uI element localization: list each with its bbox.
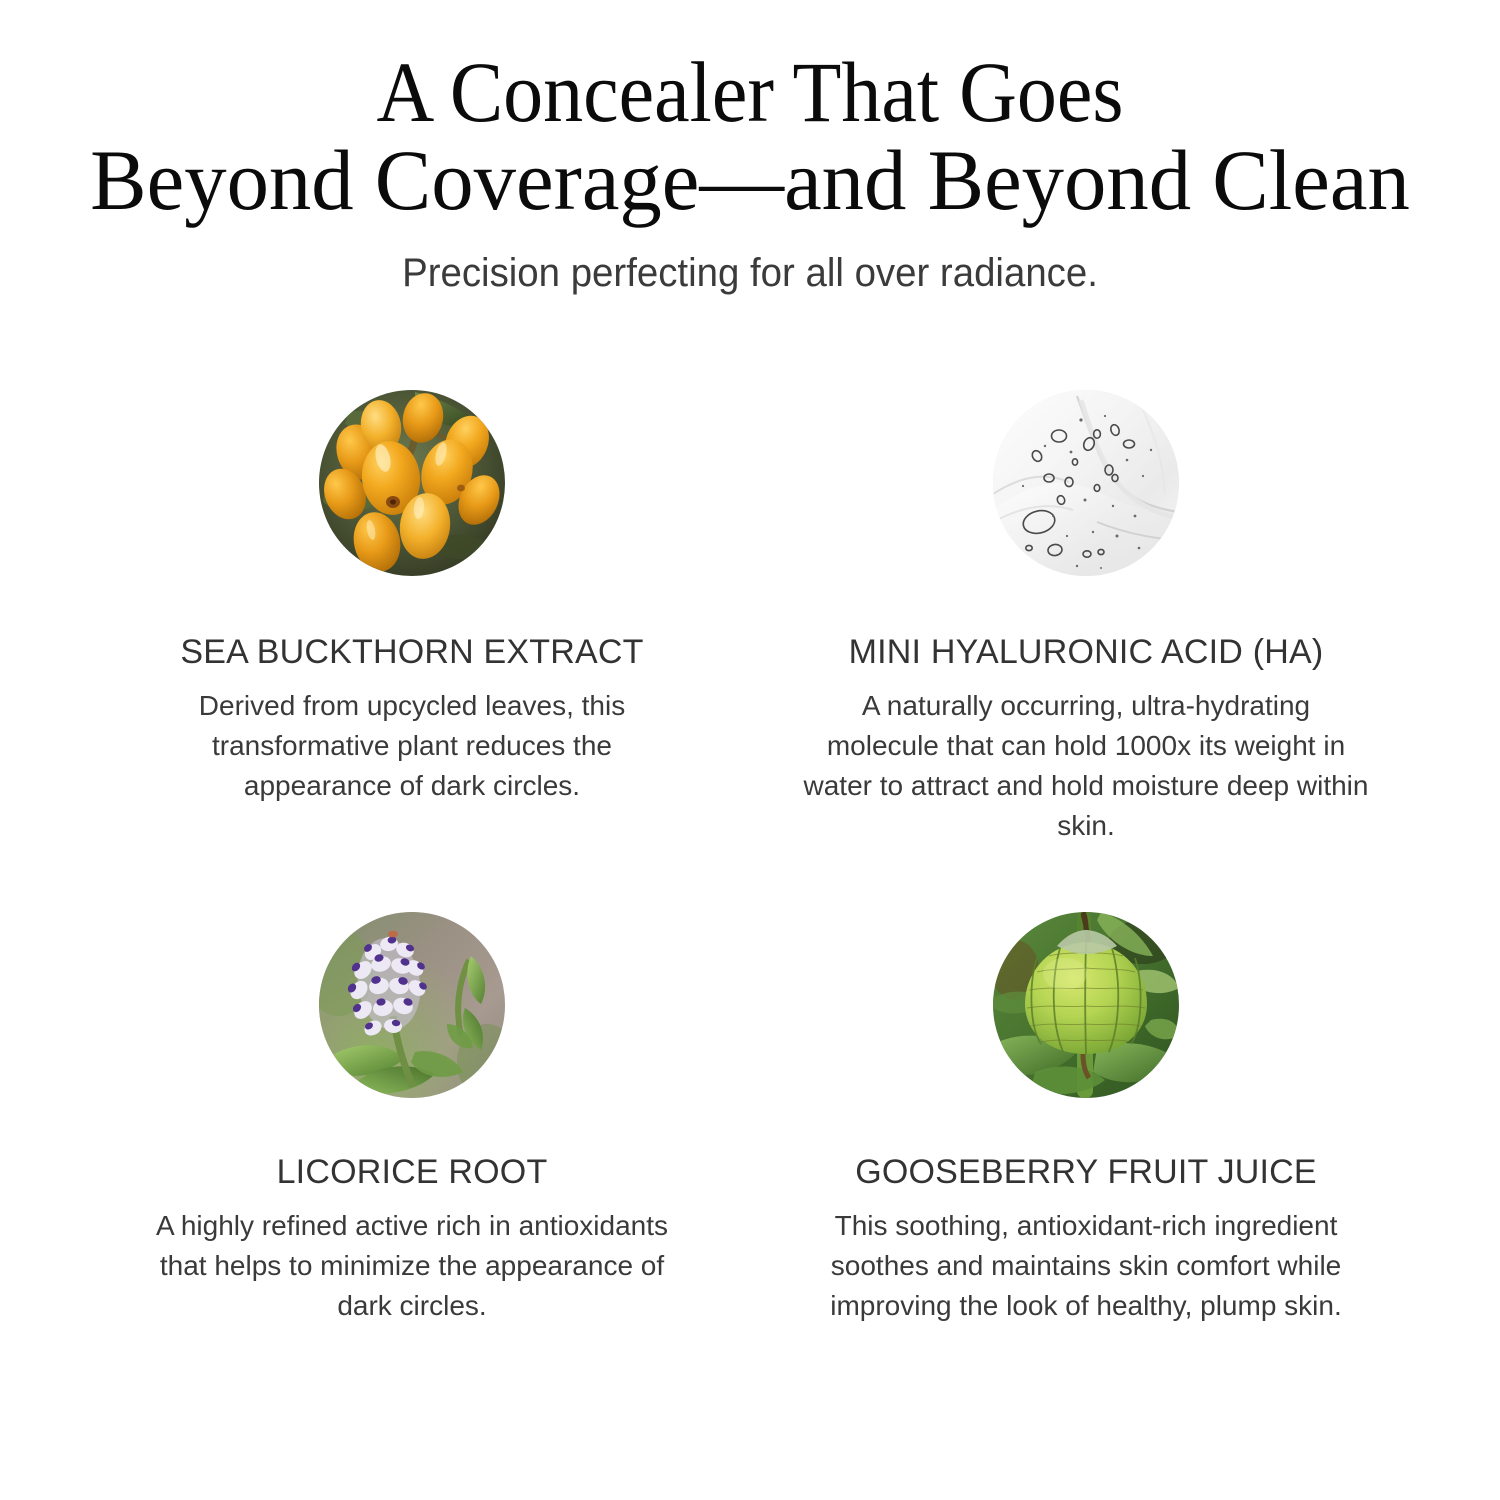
ingredient-title: GOOSEBERRY FRUIT JUICE — [786, 1152, 1386, 1192]
sea-buckthorn-berries-photo — [319, 390, 505, 576]
ingredient-description: Derived from upcycled leaves, this trans… — [152, 686, 672, 806]
ingredient-card-licorice-root: LICORICE ROOT A highly refined active ri… — [112, 910, 712, 1326]
ingredient-grid: SEA BUCKTHORN EXTRACT Derived from upcyc… — [0, 380, 1500, 1440]
page-title: A Concealer That Goes Beyond Coverage—an… — [0, 48, 1500, 224]
licorice-root-flower-photo — [319, 912, 505, 1098]
headline-line-1: A Concealer That Goes — [53, 48, 1448, 136]
hyaluronic-acid-gel-texture-photo — [993, 390, 1179, 576]
ingredient-title: LICORICE ROOT — [112, 1152, 712, 1192]
page-subtitle: Precision perfecting for all over radian… — [30, 249, 1470, 297]
ingredient-description: A highly refined active rich in antioxid… — [152, 1206, 672, 1326]
ingredient-row-2: LICORICE ROOT A highly refined active ri… — [0, 910, 1500, 1440]
ingredient-title: MINI HYALURONIC ACID (HA) — [786, 632, 1386, 672]
ingredient-card-gooseberry-fruit-juice: GOOSEBERRY FRUIT JUICE This soothing, an… — [786, 910, 1386, 1326]
ingredient-card-sea-buckthorn-extract: SEA BUCKTHORN EXTRACT Derived from upcyc… — [112, 380, 712, 806]
ingredient-card-mini-hyaluronic-acid: MINI HYALURONIC ACID (HA) A naturally oc… — [786, 380, 1386, 846]
ingredient-description: A naturally occurring, ultra-hydrating m… — [804, 686, 1369, 846]
gooseberry-fruit-photo — [993, 912, 1179, 1098]
ingredient-description: This soothing, antioxidant-rich ingredie… — [804, 1206, 1369, 1326]
ingredient-benefits-page: A Concealer That Goes Beyond Coverage—an… — [0, 0, 1500, 1500]
ingredient-title: SEA BUCKTHORN EXTRACT — [112, 632, 712, 672]
headline-line-2: Beyond Coverage—and Beyond Clean — [11, 136, 1489, 224]
ingredient-row-1: SEA BUCKTHORN EXTRACT Derived from upcyc… — [0, 380, 1500, 910]
